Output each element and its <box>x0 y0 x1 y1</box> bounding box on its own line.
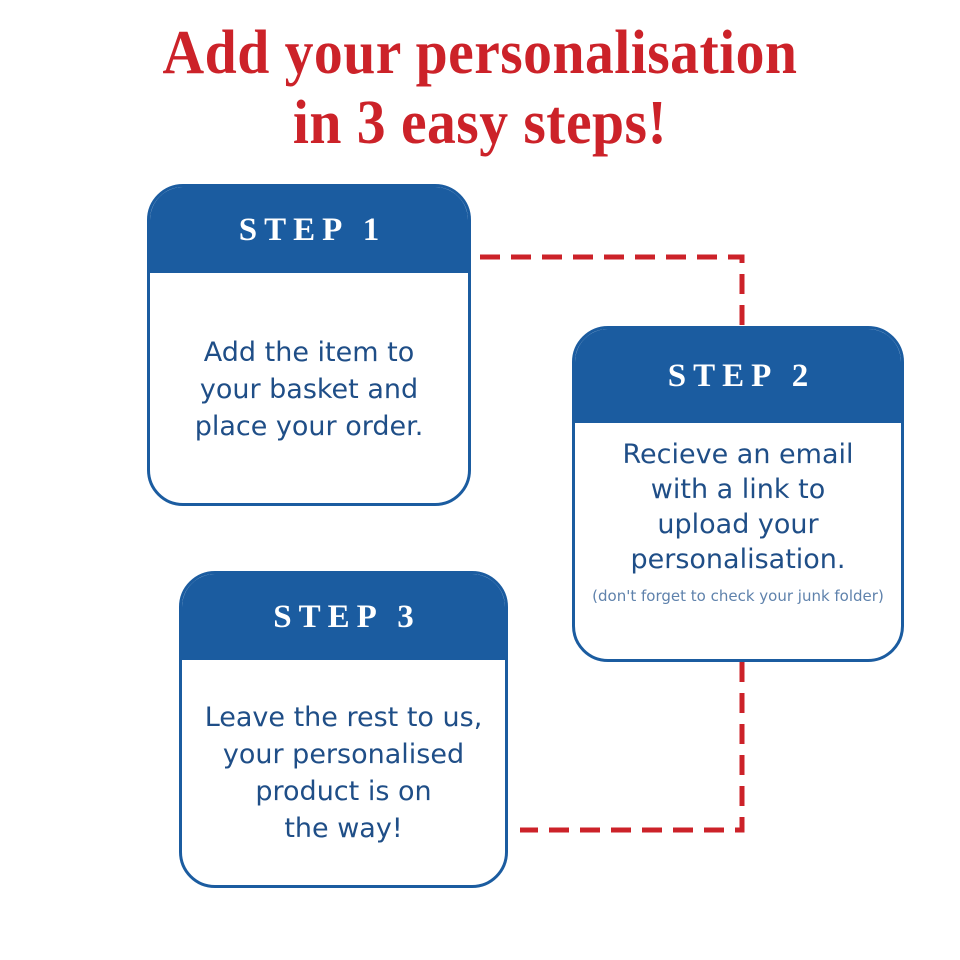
page-title-line-1: Add your personalisation <box>34 22 927 84</box>
step-2-body: Recieve an email with a link to upload y… <box>575 423 901 659</box>
step-card-1: STEP 1 Add the item to your basket and p… <box>147 184 471 506</box>
step-card-2: STEP 2 Recieve an email with a link to u… <box>572 326 904 662</box>
infographic-canvas: Add your personalisation in 3 easy steps… <box>0 0 960 960</box>
step-3-header: STEP 3 <box>182 574 505 660</box>
connector-step2-to-step3 <box>520 662 742 830</box>
page-title: Add your personalisation in 3 easy steps… <box>0 22 960 154</box>
step-2-note: (don't forget to check your junk folder) <box>592 587 884 605</box>
step-2-text: Recieve an email with a link to upload y… <box>623 437 854 577</box>
step-card-3: STEP 3 Leave the rest to us, your person… <box>179 571 508 888</box>
page-title-line-2: in 3 easy steps! <box>34 92 927 154</box>
step-2-header: STEP 2 <box>575 329 901 423</box>
connector-step1-to-step2 <box>480 257 742 326</box>
step-3-body: Leave the rest to us, your personalised … <box>182 660 505 885</box>
step-1-header: STEP 1 <box>150 187 468 273</box>
step-1-body: Add the item to your basket and place yo… <box>150 273 468 503</box>
step-3-text: Leave the rest to us, your personalised … <box>205 699 483 847</box>
step-1-text: Add the item to your basket and place yo… <box>195 334 424 445</box>
